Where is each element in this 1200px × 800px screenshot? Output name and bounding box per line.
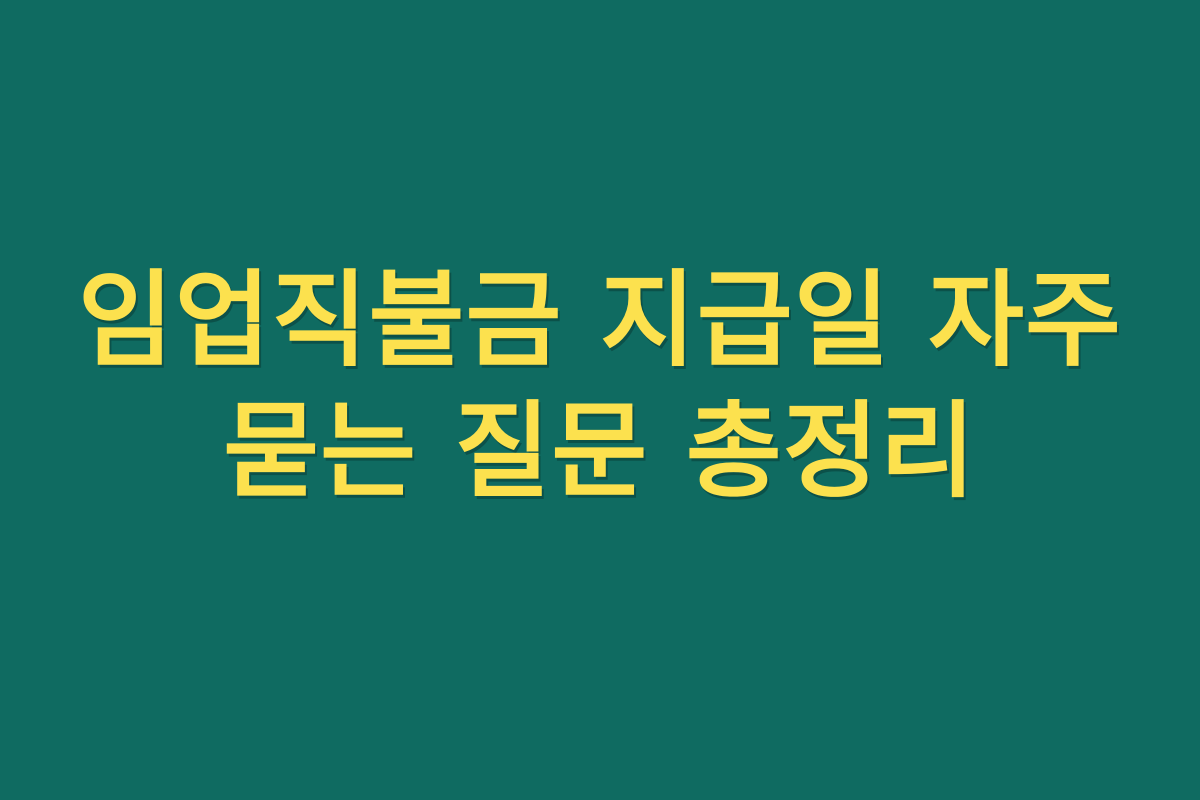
heading-line-1: 임업직불금 지급일 자주	[40, 255, 1160, 386]
heading-block: 임업직불금 지급일 자주 묻는 질문 총정리	[40, 255, 1160, 517]
heading-line-2: 묻는 질문 총정리	[40, 386, 1160, 517]
thumbnail-canvas: 임업직불금 지급일 자주 묻는 질문 총정리	[0, 0, 1200, 800]
